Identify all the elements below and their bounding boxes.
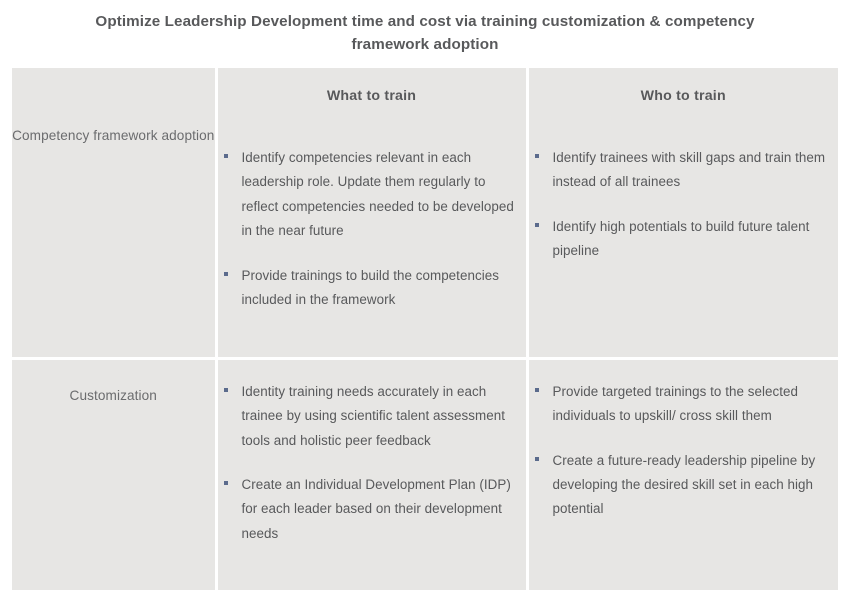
list-item: Create an Individual Development Plan (I… (218, 473, 526, 546)
list-item: Identify competencies relevant in each l… (218, 146, 526, 244)
column-header-what-to-train: What to train (216, 68, 527, 124)
table-header-row: What to train Who to train (12, 68, 838, 124)
list-item-text: Provide trainings to build the competenc… (242, 264, 526, 313)
bullet-square-icon (535, 154, 539, 158)
training-matrix-table: What to train Who to train Competency fr… (12, 68, 838, 590)
slide-container: Optimize Leadership Development time and… (0, 0, 850, 611)
list-item-text: Create a future-ready leadership pipelin… (553, 449, 839, 522)
list-item-text: Create an Individual Development Plan (I… (242, 473, 526, 546)
list-item: Identity training needs accurately in ea… (218, 380, 526, 453)
list-item: Create a future-ready leadership pipelin… (529, 449, 839, 522)
bullet-square-icon (224, 154, 228, 158)
cell-who-to-train-row-2: Provide targeted trainings to the select… (527, 358, 838, 590)
column-header-blank (12, 68, 216, 124)
table-row: Customization Identity training needs ac… (12, 358, 838, 590)
page-title: Optimize Leadership Development time and… (95, 10, 755, 56)
list-item-text: Identify competencies relevant in each l… (242, 146, 526, 244)
list-item: Identify trainees with skill gaps and tr… (529, 146, 839, 195)
bullet-square-icon (535, 388, 539, 392)
list-item-text: Identity training needs accurately in ea… (242, 380, 526, 453)
bullet-square-icon (224, 388, 228, 392)
list-item: Provide targeted trainings to the select… (529, 380, 839, 429)
row-label-competency-framework-adoption: Competency framework adoption (12, 124, 216, 358)
bullet-square-icon (535, 223, 539, 227)
bullet-square-icon (224, 272, 228, 276)
row-label-customization: Customization (12, 358, 216, 590)
cell-who-to-train-row-1: Identify trainees with skill gaps and tr… (527, 124, 838, 358)
cell-what-to-train-row-2: Identity training needs accurately in ea… (216, 358, 527, 590)
bullet-square-icon (224, 481, 228, 485)
column-header-who-to-train: Who to train (527, 68, 838, 124)
list-item-text: Identify trainees with skill gaps and tr… (553, 146, 839, 195)
list-item-text: Provide targeted trainings to the select… (553, 380, 839, 429)
list-item: Identify high potentials to build future… (529, 215, 839, 264)
list-item-text: Identify high potentials to build future… (553, 215, 839, 264)
bullet-square-icon (535, 457, 539, 461)
list-item: Provide trainings to build the competenc… (218, 264, 526, 313)
table-row: Competency framework adoption Identify c… (12, 124, 838, 358)
cell-what-to-train-row-1: Identify competencies relevant in each l… (216, 124, 527, 358)
